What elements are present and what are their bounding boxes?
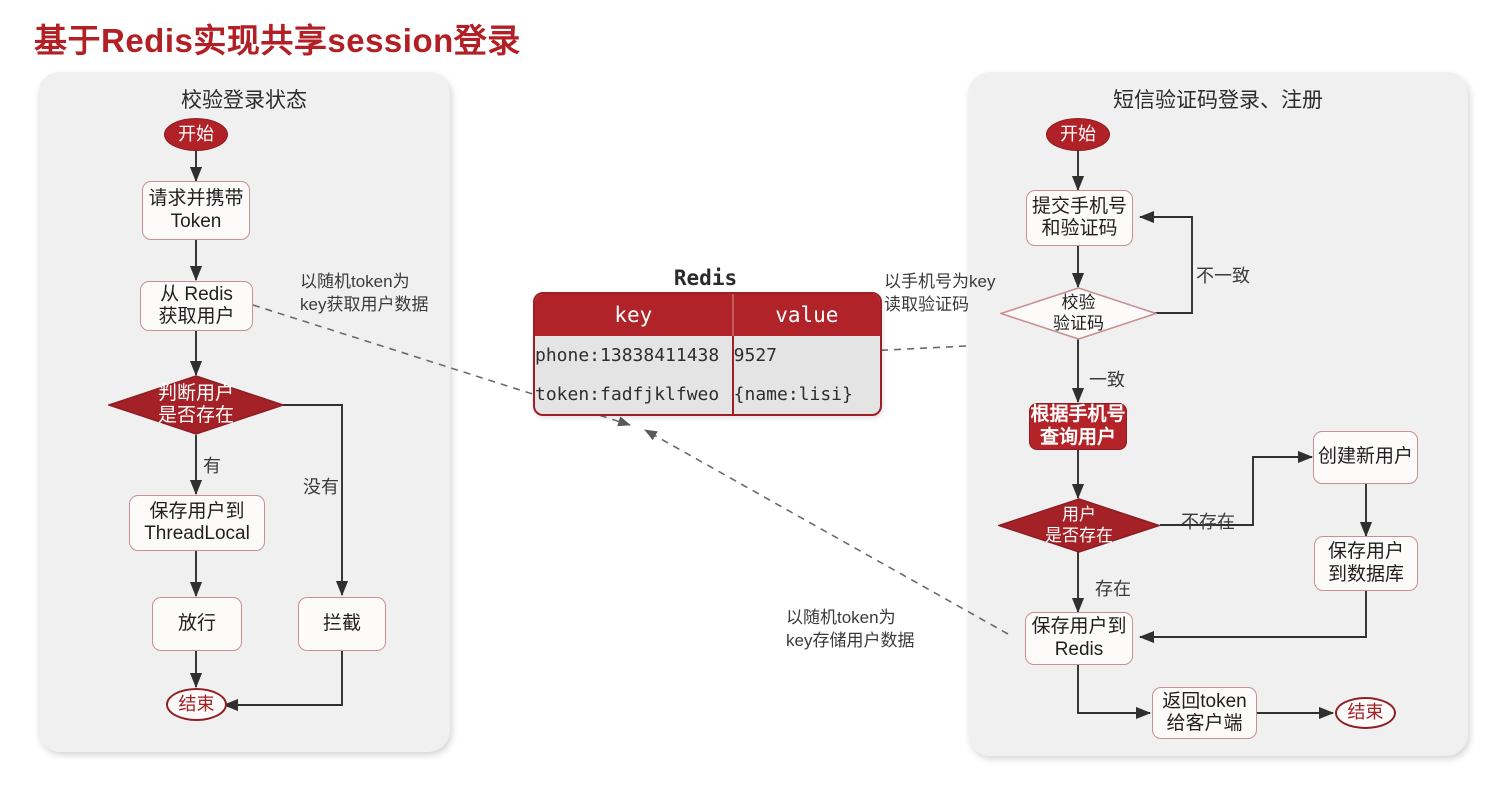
right-node-save-user-to-redis[interactable]: 保存用户到 Redis bbox=[1025, 612, 1133, 665]
redis-table-row: phone:13838411438 9527 bbox=[535, 336, 880, 375]
redis-cell-key: token:fadfjklfweo bbox=[535, 375, 732, 414]
right-edge-label-mismatch: 不一致 bbox=[1196, 262, 1250, 288]
right-node-submit-phone-code[interactable]: 提交手机号 和验证码 bbox=[1026, 190, 1133, 246]
left-node-save-to-threadlocal[interactable]: 保存用户到 ThreadLocal bbox=[129, 495, 265, 551]
left-node-start[interactable]: 开始 bbox=[164, 118, 228, 151]
right-edge-label-exists: 存在 bbox=[1095, 575, 1131, 601]
redis-table-row: token:fadfjklfweo {name:lisi} bbox=[535, 375, 880, 414]
redis-column-key: key bbox=[535, 294, 732, 336]
right-node-create-new-user[interactable]: 创建新用户 bbox=[1313, 431, 1418, 484]
redis-table-header: key value bbox=[535, 294, 880, 336]
left-edge-label-yes: 有 bbox=[203, 452, 221, 478]
left-node-pass[interactable]: 放行 bbox=[152, 597, 242, 651]
left-node-get-user-from-redis[interactable]: 从 Redis 获取用户 bbox=[140, 281, 253, 331]
right-node-user-exists-decision[interactable]: 用户 是否存在 bbox=[998, 498, 1160, 553]
annotation-store-user-by-token: 以随机token为 key存储用户数据 bbox=[786, 607, 914, 653]
redis-column-value: value bbox=[732, 294, 880, 336]
annotation-read-user-by-token: 以随机token为 key获取用户数据 bbox=[300, 271, 428, 317]
right-edge-label-match: 一致 bbox=[1089, 366, 1125, 392]
left-node-intercept[interactable]: 拦截 bbox=[298, 597, 386, 651]
redis-table: key value phone:13838411438 9527 token:f… bbox=[533, 292, 882, 416]
right-node-verify-code-decision[interactable]: 校验 验证码 bbox=[1000, 287, 1157, 340]
right-node-end[interactable]: 结束 bbox=[1335, 697, 1396, 729]
diagram-canvas: 基于Redis实现共享session登录 校验登录状态 短信验证码登录、注册 bbox=[0, 0, 1499, 785]
redis-cell-value: {name:lisi} bbox=[732, 375, 880, 414]
right-node-return-token[interactable]: 返回token 给客户端 bbox=[1152, 687, 1257, 739]
right-node-start[interactable]: 开始 bbox=[1046, 118, 1110, 151]
redis-cell-value: 9527 bbox=[732, 336, 880, 375]
right-edge-label-not-exists: 不存在 bbox=[1181, 508, 1235, 534]
right-node-save-user-to-db[interactable]: 保存用户 到数据库 bbox=[1314, 536, 1418, 591]
left-node-request-with-token[interactable]: 请求并携带 Token bbox=[142, 181, 250, 240]
redis-table-title: Redis bbox=[533, 266, 878, 290]
left-node-user-exists-decision[interactable]: 判断用户 是否存在 bbox=[108, 375, 284, 435]
left-edge-label-no: 没有 bbox=[303, 473, 339, 499]
left-node-end[interactable]: 结束 bbox=[166, 688, 227, 721]
annotation-read-code-by-phone: 以手机号为key 读取验证码 bbox=[884, 271, 995, 317]
redis-cell-key: phone:13838411438 bbox=[535, 336, 732, 375]
right-node-query-user-by-phone[interactable]: 根据手机号 查询用户 bbox=[1029, 403, 1127, 450]
